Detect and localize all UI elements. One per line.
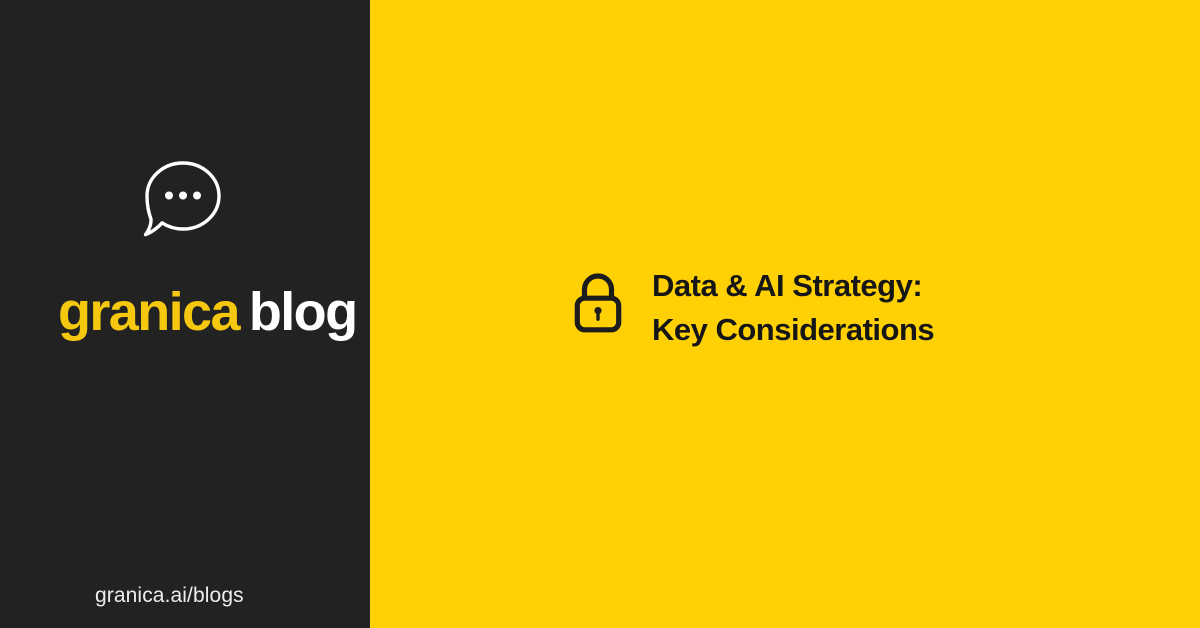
article-heading-block: Data & AI Strategy: Key Considerations bbox=[572, 264, 934, 352]
brand-lockup: granicablog bbox=[58, 281, 328, 343]
chat-bubble-icon bbox=[137, 155, 229, 247]
brand-name-granica: granica bbox=[58, 282, 239, 342]
article-title-line-1: Data & AI Strategy: bbox=[652, 264, 934, 308]
content-panel: Data & AI Strategy: Key Considerations bbox=[370, 0, 1200, 628]
article-title-line-2: Key Considerations bbox=[652, 308, 934, 352]
brand-name-blog: blog bbox=[249, 282, 357, 342]
social-share-card: granicablog granica.ai/blogs Data & AI S… bbox=[0, 0, 1200, 628]
site-url[interactable]: granica.ai/blogs bbox=[95, 584, 244, 608]
lock-icon bbox=[572, 272, 624, 334]
brand-panel: granicablog granica.ai/blogs bbox=[0, 0, 370, 628]
article-title: Data & AI Strategy: Key Considerations bbox=[652, 264, 934, 352]
